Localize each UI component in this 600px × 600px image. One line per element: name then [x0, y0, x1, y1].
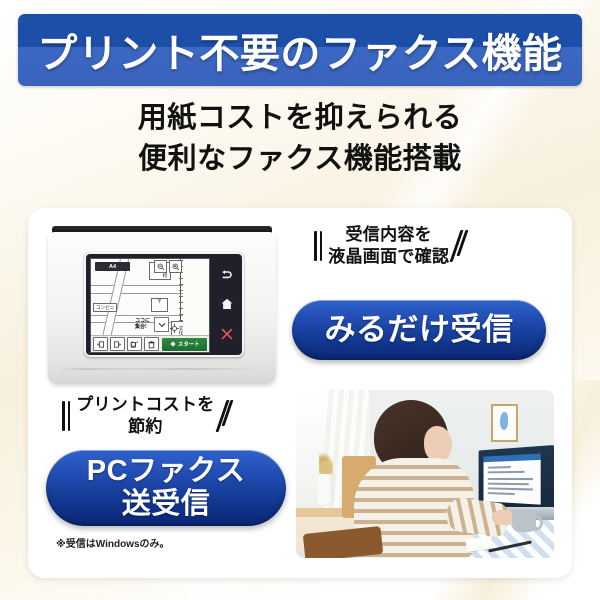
subtitle-block: 用紙コストを抑えられる 便利なファクス機能搭載 — [0, 98, 600, 180]
subtitle-line-1: 用紙コストを抑えられる — [0, 98, 600, 139]
trash-icon[interactable] — [144, 337, 159, 351]
photo-laptop-document — [484, 453, 541, 504]
badge-pc-fax-text: PCファクス 送受信 — [87, 455, 245, 521]
badge-mirudake-label: みるだけ受信 — [325, 312, 514, 347]
badge-mirudake-jushin[interactable]: みるだけ受信 — [292, 300, 546, 360]
photo-wall-frame — [491, 404, 518, 442]
photo-vase — [318, 474, 334, 506]
map-here-note: ココに 集合! — [135, 319, 150, 330]
magnifier-plus-icon[interactable] — [169, 260, 182, 273]
slash-marks-left — [314, 231, 322, 261]
close-x-icon[interactable] — [220, 327, 235, 342]
map-label-convenience: コンビニ — [93, 303, 117, 312]
badge-pc-fax-line-1: PCファクス — [87, 455, 245, 488]
badge-mirudake-text: みるだけ受信 — [325, 312, 514, 347]
callout-receive-line-1: 受信内容を — [328, 224, 449, 246]
badge-pc-fax-line-2: 送受信 — [87, 488, 245, 521]
header-title: プリント不要のファクス機能 — [37, 21, 562, 79]
callout-receive-text: 受信内容を 液晶画面で確認 — [328, 224, 449, 268]
photo-plant — [319, 452, 333, 476]
compass-icon — [170, 320, 179, 329]
slash-marks-cost-right — [221, 400, 229, 432]
advertisement-page: プリント不要のファクス機能 用紙コストを抑えられる 便利なファクス機能搭載 — [0, 0, 600, 600]
back-arrow-icon[interactable] — [220, 267, 235, 282]
lcd-paper-size-badge: A4 — [95, 262, 130, 271]
photo-mug — [512, 510, 536, 532]
start-diamond-icon — [170, 341, 176, 347]
content-card: A4 小学校 コンビニ 〒 文化会館 ココに 集合! — [28, 208, 572, 578]
printer-hard-keys — [210, 252, 244, 357]
photo-laptop-titlebar — [484, 453, 541, 462]
photo-person-face — [424, 426, 452, 462]
chevron-down-icon[interactable] — [154, 317, 169, 332]
callout-cost-text: プリントコストを 節約 — [76, 394, 214, 438]
slash-marks-cost-left — [62, 401, 70, 431]
callout-cost-line-2: 節約 — [76, 416, 214, 438]
printer-illustration: A4 小学校 コンビニ 〒 文化会館 ココに 集合! — [48, 226, 276, 391]
photo-woman-using-laptop — [296, 390, 554, 558]
lcd-map-preview: A4 小学校 コンビニ 〒 文化会館 ココに 集合! — [91, 259, 183, 335]
footnote-windows-only: ※受信はWindowsのみ。 — [56, 535, 170, 550]
callout-receive-line-2: 液晶画面で確認 — [328, 246, 449, 268]
slash-marks-right — [455, 230, 463, 262]
lcd-zoom-controls — [154, 260, 182, 273]
lcd-start-button[interactable]: スタート — [162, 338, 207, 351]
rotate-page-icon[interactable] — [127, 337, 142, 351]
callout-cost-line-1: プリントコストを — [76, 394, 214, 416]
previous-page-icon[interactable] — [93, 337, 108, 351]
lcd-toolbar: スタート — [91, 335, 209, 352]
magnifier-minus-icon[interactable] — [154, 260, 167, 273]
lcd-start-label: スタート — [178, 340, 200, 348]
callout-print-cost: プリントコストを 節約 — [62, 394, 229, 438]
map-label-post-office: 〒 — [151, 298, 168, 312]
printer-lcd-screen[interactable]: A4 小学校 コンビニ 〒 文化会館 ココに 集合! — [90, 258, 210, 353]
printer-control-panel: A4 小学校 コンビニ 〒 文化会館 ココに 集合! — [84, 252, 244, 357]
map-here-note-line-2: 集合! — [135, 325, 150, 331]
home-icon[interactable] — [220, 297, 235, 312]
photo-person-hand — [492, 510, 514, 525]
map-road-horizontal-1 — [91, 285, 183, 294]
header-banner: プリント不要のファクス機能 — [18, 14, 582, 86]
printer-seam — [54, 368, 270, 370]
callout-receive-on-screen: 受信内容を 液晶画面で確認 — [314, 224, 463, 268]
next-page-icon[interactable] — [110, 337, 125, 351]
subtitle-line-2: 便利なファクス機能搭載 — [0, 139, 600, 180]
badge-pc-fax[interactable]: PCファクス 送受信 — [46, 450, 286, 526]
